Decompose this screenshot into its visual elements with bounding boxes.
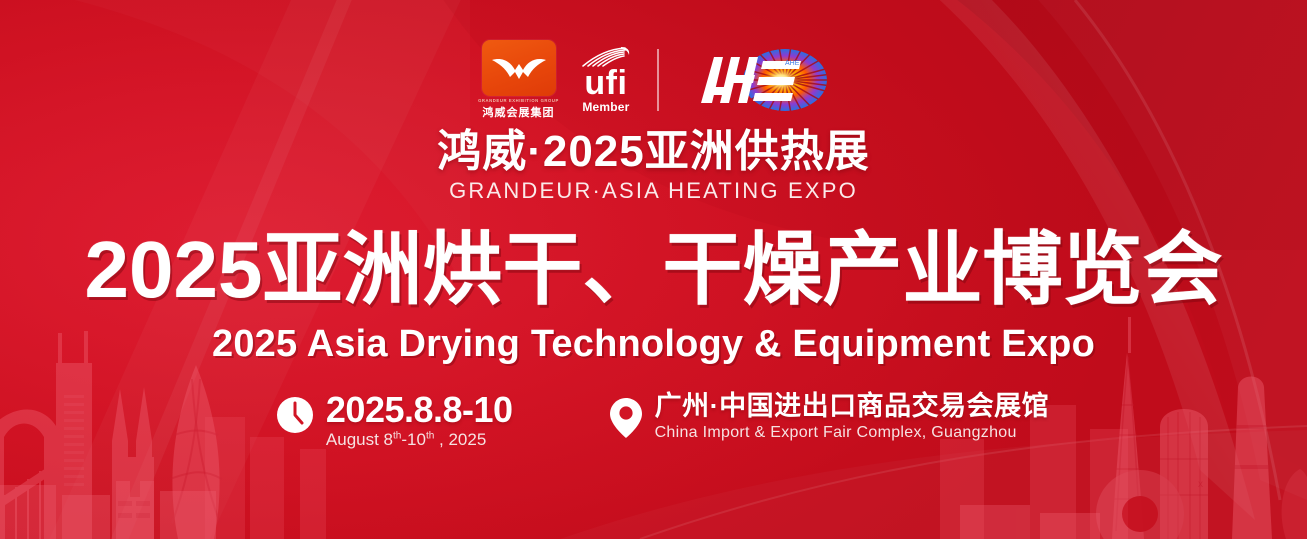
ufi-logo[interactable]: ufi Member (581, 46, 631, 114)
headline-english: 2025 Asia Drying Technology & Equipment … (0, 325, 1307, 363)
logo-divider (657, 49, 659, 111)
info-row: 2025.8.8-10 August 8th-10th , 2025 广州·中国… (0, 392, 1307, 450)
venue-sub: China Import & Export Fair Complex, Guan… (655, 424, 1050, 442)
ufi-logo-word: ufi (584, 69, 627, 98)
grandeur-logo[interactable]: GRANDEUR EXHIBITION GROUP 鸿威会展集团 (478, 40, 559, 120)
ahe-sunburst-icon: AHE (681, 47, 829, 113)
grandeur-logo-english: GRANDEUR EXHIBITION GROUP (478, 98, 559, 103)
ahe-logo[interactable]: AHE (681, 47, 829, 113)
headline-chinese: 2025亚洲烘干、干燥产业博览会 (0, 230, 1307, 310)
svg-text:x: x (1198, 479, 1203, 490)
date-sub: August 8th-10th , 2025 (326, 430, 513, 450)
title-chinese: 鸿威·2025亚洲供热展 (0, 128, 1307, 176)
grandeur-logo-chinese: 鸿威会展集团 (483, 104, 555, 120)
date-main: 2025.8.8-10 (326, 392, 513, 429)
ufi-logo-tagline: Member (582, 100, 629, 114)
date-info: 2025.8.8-10 August 8th-10th , 2025 (276, 392, 513, 450)
svg-text:AHE: AHE (785, 60, 800, 67)
logo-row: GRANDEUR EXHIBITION GROUP 鸿威会展集团 ufi Mem… (0, 40, 1307, 120)
event-banner: x (0, 0, 1307, 539)
title-english: GRANDEUR·ASIA HEATING EXPO (0, 178, 1307, 204)
venue-info: 广州·中国进出口商品交易会展馆 China Import & Export Fa… (609, 392, 1050, 445)
clock-icon (276, 396, 314, 439)
title-block: 鸿威·2025亚洲供热展 GRANDEUR·ASIA HEATING EXPO (0, 128, 1307, 204)
wings-w-icon (482, 40, 556, 96)
location-pin-icon (609, 396, 643, 445)
venue-main: 广州·中国进出口商品交易会展馆 (655, 392, 1050, 421)
